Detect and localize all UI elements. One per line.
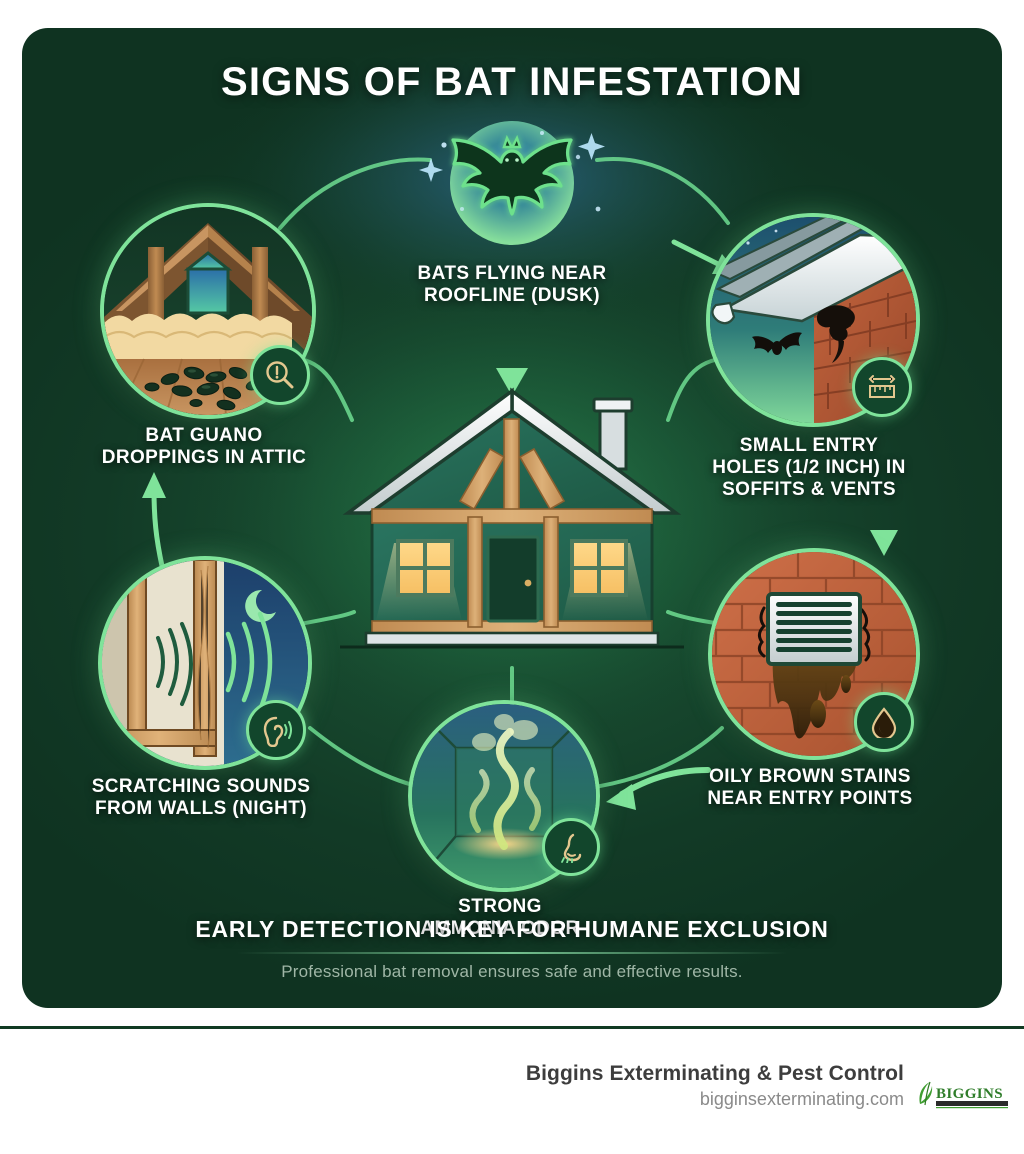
company-name: Biggins Exterminating & Pest Control: [526, 1062, 904, 1086]
badge-ear[interactable]: [246, 700, 306, 760]
magnifier-alert-icon: [263, 358, 297, 392]
poster: SIGNS OF BAT INFESTATION: [22, 28, 1002, 1008]
green-leaf-icon: [919, 1082, 932, 1105]
page-title: SIGNS OF BAT INFESTATION: [22, 60, 1002, 105]
oil-droplet-icon: [868, 706, 900, 738]
arrow-entry-to-stains: [870, 494, 898, 556]
tagline-divider: [237, 952, 787, 954]
arrow-sounds-to-guano: [142, 472, 166, 566]
sign-scratching-sounds[interactable]: SCRATCHING SOUNDS FROM WALLS (NIGHT): [98, 556, 312, 770]
house-cutaway: [332, 383, 692, 673]
footer-brand: Biggins Exterminating & Pest Control big…: [526, 1062, 904, 1110]
tagline: EARLY DETECTION IS KEY FOR HUMANE EXCLUS…: [22, 916, 1002, 943]
arrow-stains-to-odor: [606, 770, 708, 810]
bat-moon-illustration: [392, 113, 632, 263]
caption-entry-holes: SMALL ENTRY HOLES (1/2 INCH) IN SOFFITS …: [712, 435, 905, 502]
badge-ruler[interactable]: [852, 357, 912, 417]
sign-bat-guano[interactable]: BAT GUANO DROPPINGS IN ATTIC: [100, 203, 316, 419]
nose-smell-icon: [555, 831, 587, 863]
company-website[interactable]: bigginsexterminating.com: [526, 1089, 904, 1110]
caption-scratching-sounds: SCRATCHING SOUNDS FROM WALLS (NIGHT): [92, 776, 311, 820]
sign-oily-stains[interactable]: OILY BROWN STAINS NEAR ENTRY POINTS: [708, 548, 920, 760]
badge-magnifier[interactable]: [250, 345, 310, 405]
badge-droplet[interactable]: [854, 692, 914, 752]
sign-bats-roofline[interactable]: BATS FLYING NEAR ROOFLINE (DUSK): [392, 113, 632, 313]
logo-wordmark: BIGGINS: [936, 1086, 1003, 1102]
footer-divider: [0, 1026, 1024, 1029]
ear-listening-icon: [259, 713, 293, 747]
infographic-page: SIGNS OF BAT INFESTATION: [0, 0, 1024, 1154]
house-illustration: [332, 383, 692, 673]
subtagline: Professional bat removal ensures safe an…: [22, 962, 1002, 982]
company-logo[interactable]: BIGGINS: [914, 1078, 1010, 1112]
caption-bat-guano: BAT GUANO DROPPINGS IN ATTIC: [102, 425, 307, 469]
caption-bats-roofline: BATS FLYING NEAR ROOFLINE (DUSK): [382, 263, 642, 307]
caption-oily-stains: OILY BROWN STAINS NEAR ENTRY POINTS: [707, 766, 912, 810]
sign-ammonia-odor[interactable]: STRONG AMMONIA ODOR: [408, 700, 600, 892]
badge-nose[interactable]: [542, 818, 600, 876]
sign-entry-holes[interactable]: SMALL ENTRY HOLES (1/2 INCH) IN SOFFITS …: [706, 213, 920, 427]
ruler-measure-icon: [865, 370, 899, 404]
